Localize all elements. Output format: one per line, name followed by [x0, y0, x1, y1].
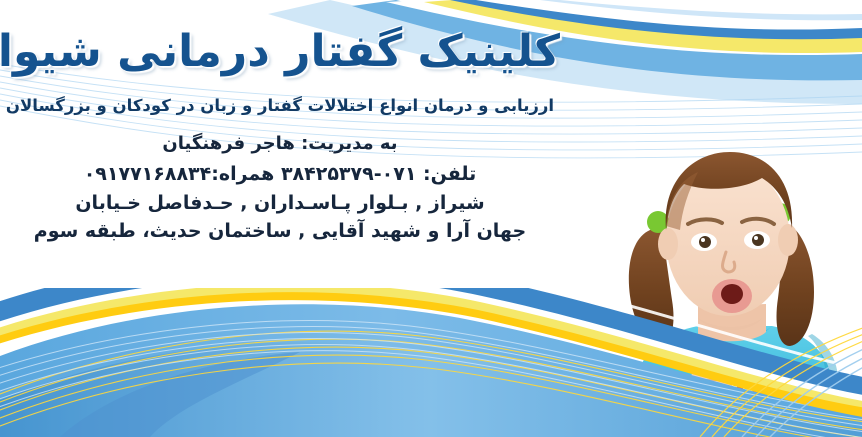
address-line-1: شیراز , بـلوار پـاسـداران , حـدفاصل خـیا…: [0, 188, 560, 217]
bottom-wave-facet: [60, 352, 300, 437]
letter-block-glyph: O: [741, 363, 781, 417]
top-edge-highlight: [540, 0, 862, 20]
business-card: O کلینیک گفتار درمانی شیوا ارزیابی و درم…: [0, 0, 862, 437]
phone-line: تلفن: ۰۷۱-۳۸۴۲۵۳۷۹ همراه:۰۹۱۷۷۱۶۸۸۳۴: [0, 156, 560, 188]
clinic-title: کلینیک گفتار درمانی شیوا: [0, 0, 560, 79]
address-line-2: جهان آرا و شهید آقایی , ساختمان حدیث، طب…: [0, 216, 560, 245]
clinic-subtitle: ارزیابی و درمان انواع اختلالات گفتار و ز…: [0, 79, 560, 116]
child-hand-with-block: O: [688, 362, 790, 418]
manager-line: به مدیریت: هاجر فرهنگیان: [0, 116, 560, 156]
child-photo: O: [602, 118, 862, 418]
text-block: کلینیک گفتار درمانی شیوا ارزیابی و درمان…: [0, 0, 560, 245]
child-head: [658, 152, 798, 330]
